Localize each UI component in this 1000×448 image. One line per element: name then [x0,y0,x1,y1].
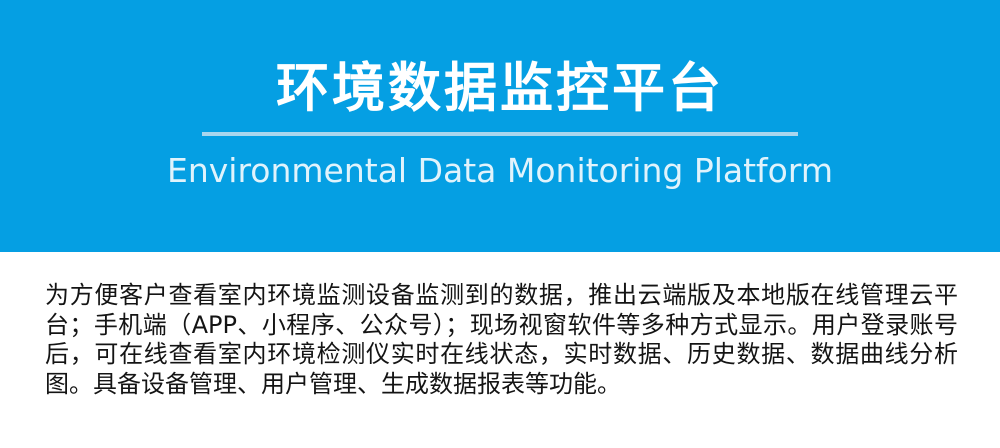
page-title: 环境数据监控平台 [276,62,724,115]
title-divider [202,132,798,136]
header-banner: 环境数据监控平台 Environmental Data Monitoring P… [0,0,1000,252]
product-description: 为方便客户查看室内环境监测设备监测到的数据，推出云端版及本地版在线管理云平台；手… [45,281,958,399]
product-banner-page: 环境数据监控平台 Environmental Data Monitoring P… [0,0,1000,448]
page-subtitle: Environmental Data Monitoring Platform [167,154,833,187]
